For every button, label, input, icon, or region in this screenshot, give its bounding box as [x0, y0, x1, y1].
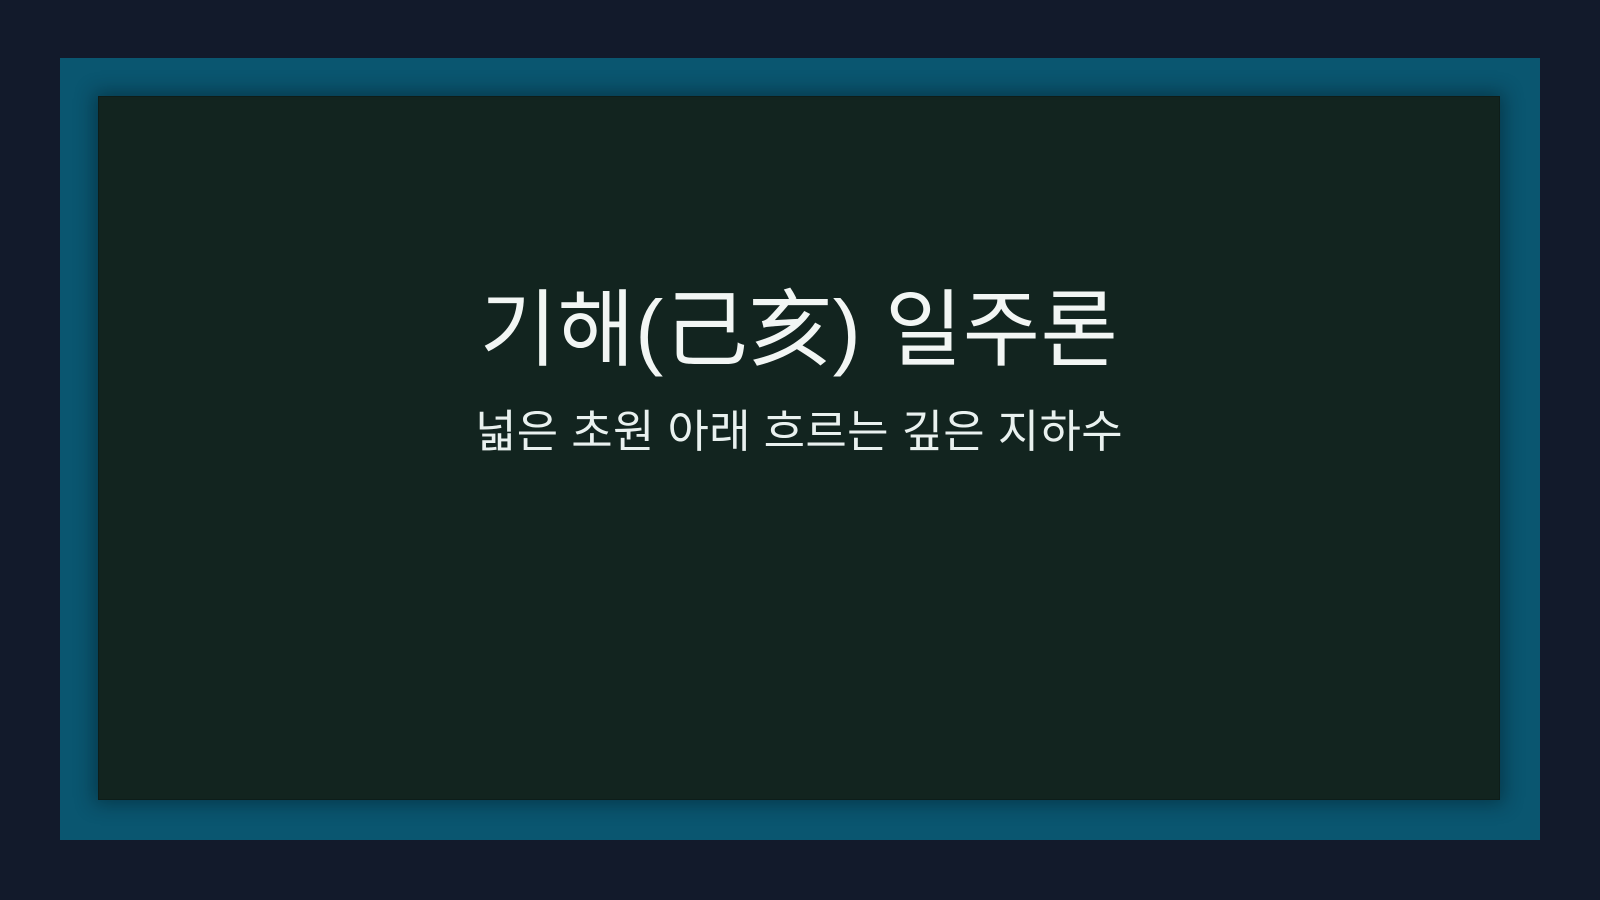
slide-frame-border: 기해(己亥) 일주론 넓은 초원 아래 흐르는 깊은 지하수	[60, 58, 1540, 840]
page-title: 기해(己亥) 일주론	[138, 282, 1460, 379]
slide-root: 기해(己亥) 일주론 넓은 초원 아래 흐르는 깊은 지하수	[0, 0, 1600, 900]
title-block: 기해(己亥) 일주론 넓은 초원 아래 흐르는 깊은 지하수	[98, 282, 1500, 459]
slide-content-panel: 기해(己亥) 일주론 넓은 초원 아래 흐르는 깊은 지하수	[98, 96, 1500, 800]
page-subtitle: 넓은 초원 아래 흐르는 깊은 지하수	[138, 405, 1460, 459]
